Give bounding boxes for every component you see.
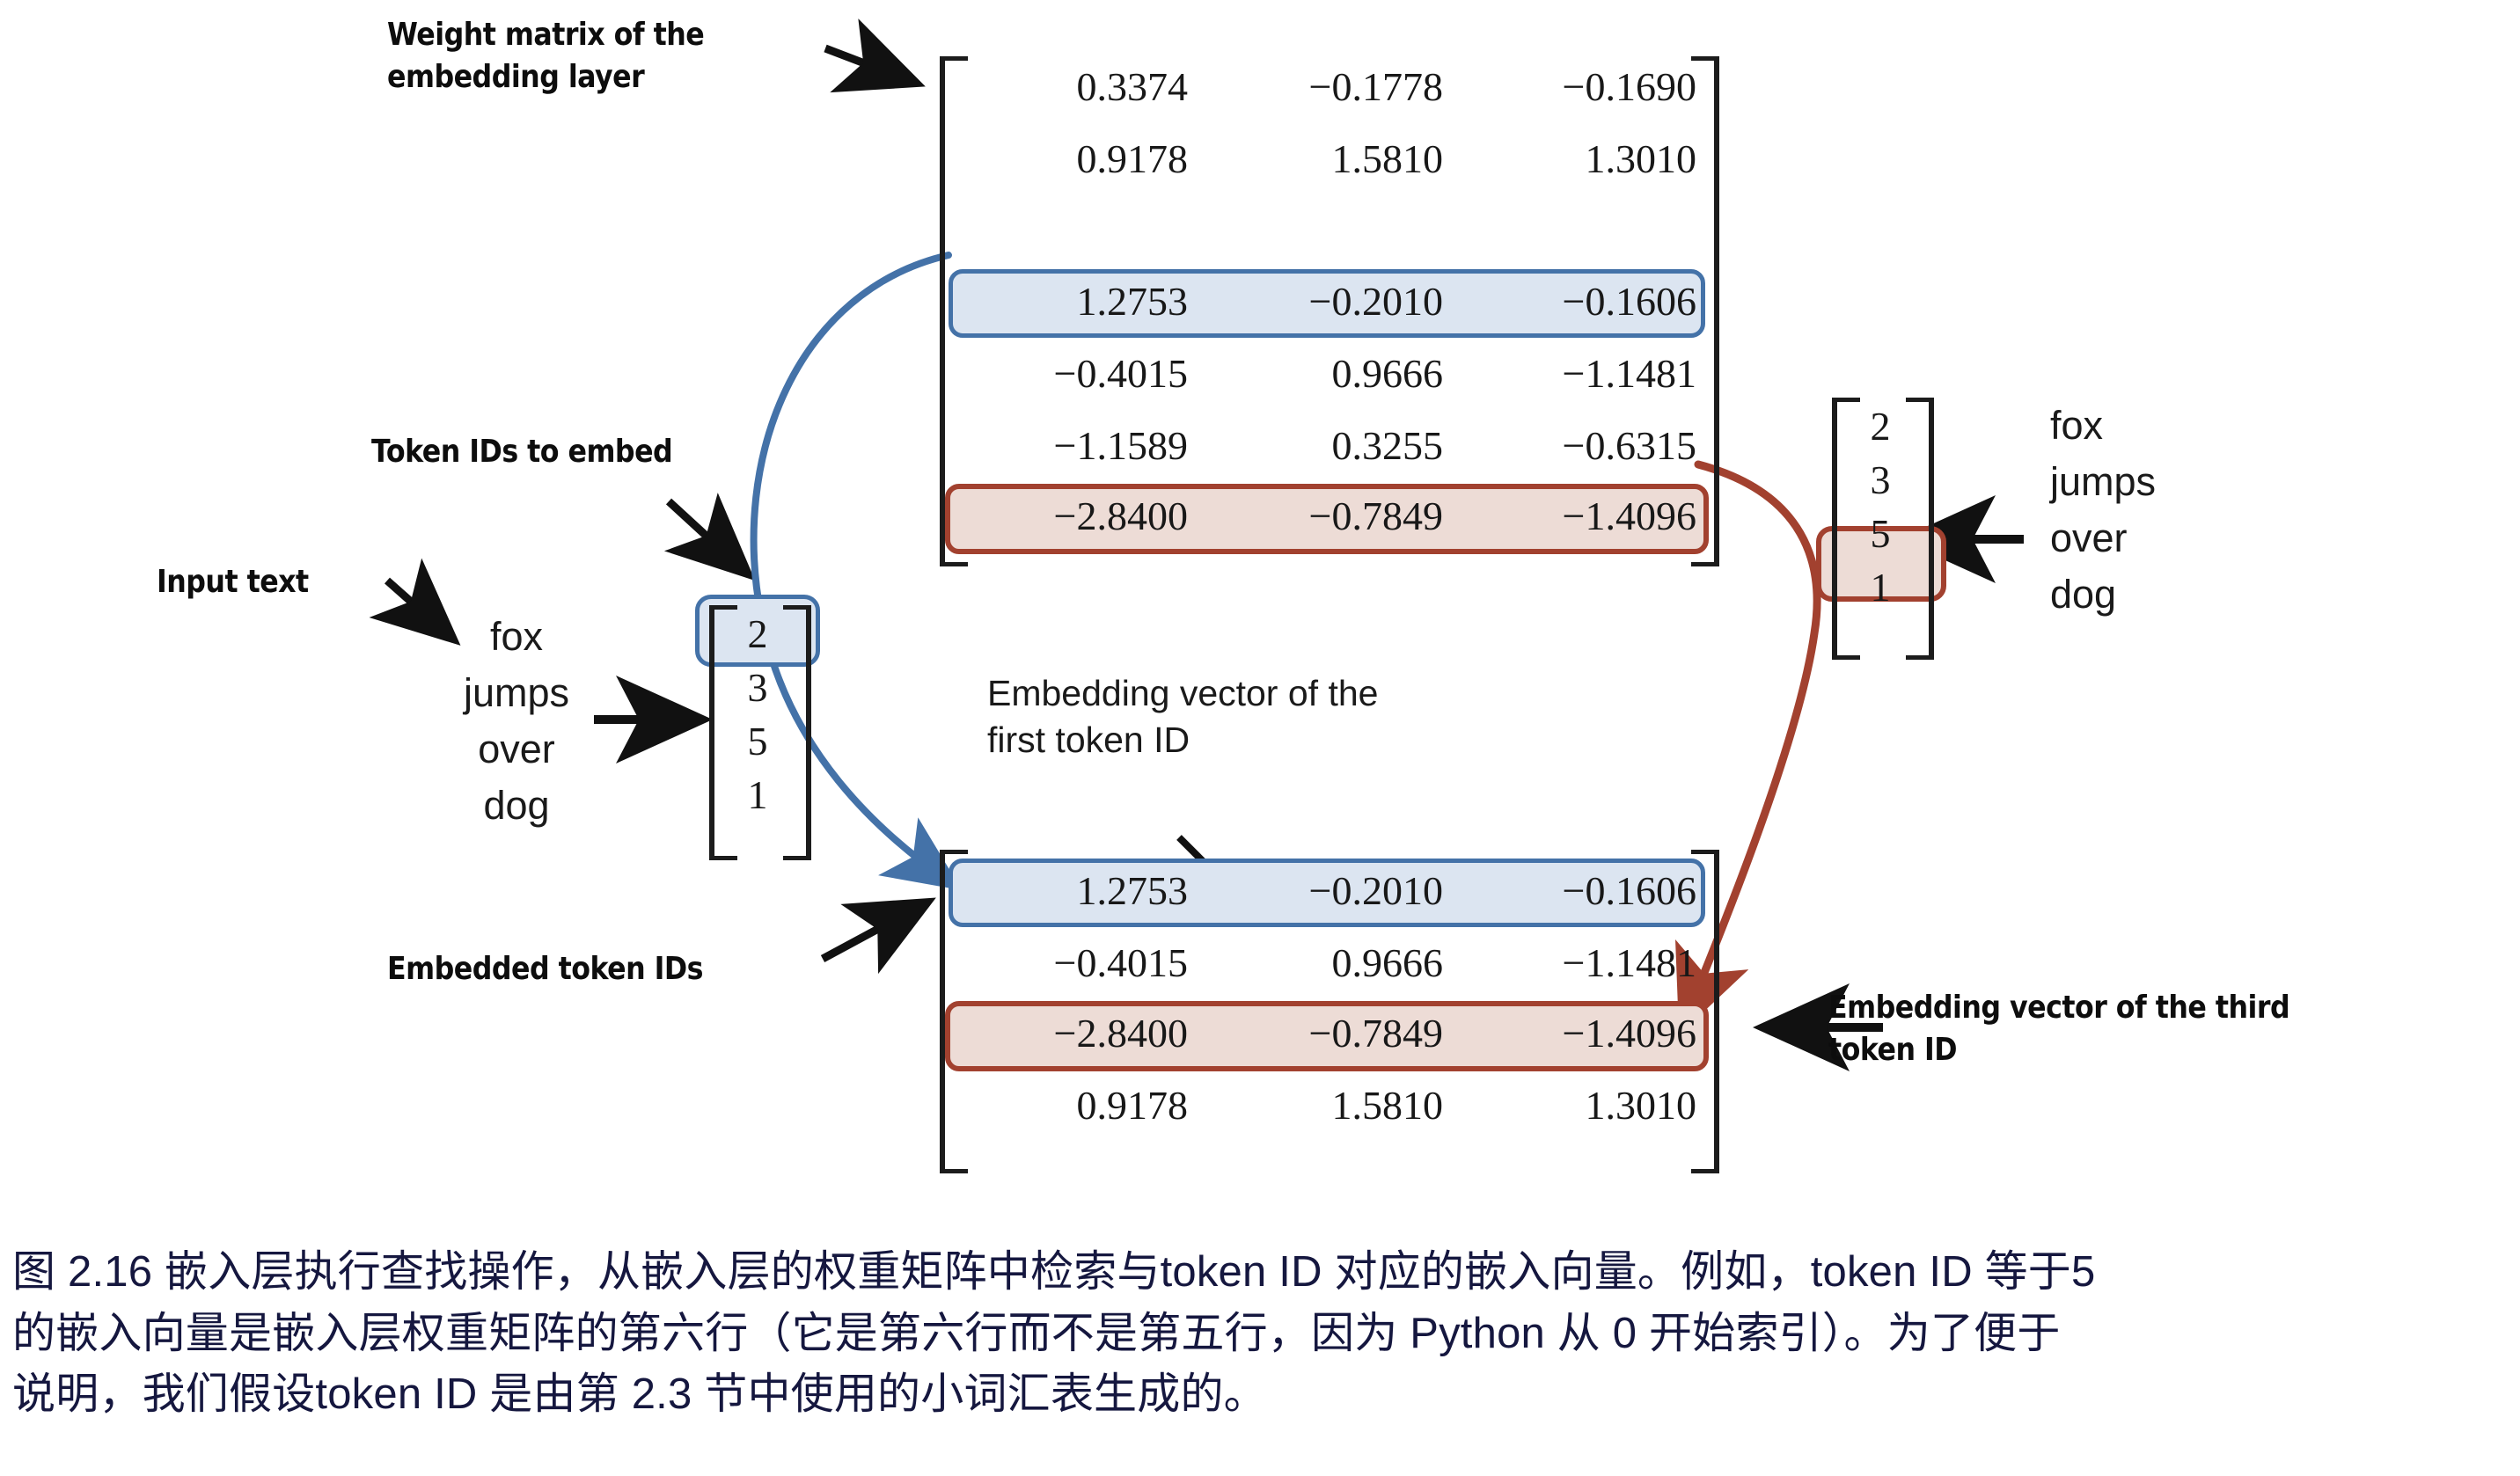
- embedded-matrix-row: 1.2753 −0.2010 −0.1606: [966, 867, 1696, 914]
- left-token-value: 3: [709, 664, 806, 711]
- embedded-matrix-row: 0.9178 1.5810 1.3010: [966, 1082, 1696, 1129]
- arrow-token-ids-to-embed: [669, 501, 744, 570]
- matrix-cell: 0.3374: [966, 63, 1188, 110]
- weight-matrix: 0.3374 −0.1778 −0.1690 0.9178 1.5810 1.3…: [940, 56, 1732, 505]
- matrix-cell: −1.4096: [1443, 493, 1696, 539]
- right-words-column: fox jumps over dog: [2050, 398, 2253, 623]
- right-word: jumps: [2050, 454, 2253, 510]
- label-embedding-vector-first-line2: first token ID: [987, 717, 1378, 764]
- matrix-cell: 0.9178: [966, 135, 1188, 182]
- label-token-ids-to-embed: Token IDs to embed: [371, 431, 672, 473]
- matrix-cell: −1.1481: [1443, 939, 1696, 986]
- label-embedding-vector-third-line2: token ID: [1828, 1029, 2289, 1071]
- label-embedding-vector-first-line1: Embedding vector of the: [987, 670, 1378, 717]
- matrix-cell: −0.2010: [1188, 867, 1443, 914]
- right-token-id-column: 2 3 5 1: [1832, 398, 1929, 653]
- right-word: over: [2050, 510, 2253, 566]
- input-word: fox: [433, 609, 600, 665]
- matrix-cell: −0.4015: [966, 939, 1188, 986]
- left-token-value: 5: [709, 718, 806, 764]
- weight-matrix-row: −0.4015 0.9666 −1.1481: [966, 350, 1696, 397]
- left-token-id-column: 2 3 5 1: [709, 605, 806, 860]
- weight-matrix-bracket-open: [940, 56, 968, 566]
- matrix-cell: 0.9666: [1188, 939, 1443, 986]
- embedded-matrix-bracket-open: [940, 850, 968, 1173]
- matrix-cell: −2.8400: [966, 493, 1188, 539]
- caption-line: 的嵌入向量是嵌入层权重矩阵的第六行（它是第六行而不是第五行，因为 Python …: [12, 1304, 2511, 1365]
- matrix-cell: −0.1690: [1443, 63, 1696, 110]
- matrix-cell: 1.3010: [1443, 135, 1696, 182]
- caption-line: 说明，我们假设token ID 是由第 2.3 节中使用的小词汇表生成的。: [12, 1364, 2511, 1426]
- embedded-matrix: 1.2753 −0.2010 −0.1606 −0.4015 0.9666 −1…: [940, 850, 1732, 1158]
- matrix-cell: 0.9178: [966, 1082, 1188, 1129]
- arrow-embedded-token-ids: [823, 905, 922, 959]
- matrix-cell: 0.3255: [1188, 422, 1443, 469]
- matrix-cell: 1.5810: [1188, 135, 1443, 182]
- input-word: dog: [433, 778, 600, 834]
- matrix-cell: −0.1606: [1443, 867, 1696, 914]
- input-words-column: fox jumps over dog: [433, 609, 600, 834]
- matrix-cell: −1.1481: [1443, 350, 1696, 397]
- left-token-value: 2: [709, 610, 806, 657]
- matrix-cell: −1.1589: [966, 422, 1188, 469]
- matrix-cell: −0.1606: [1443, 278, 1696, 325]
- matrix-cell: 1.5810: [1188, 1082, 1443, 1129]
- matrix-cell: −2.8400: [966, 1010, 1188, 1056]
- matrix-cell: 0.9666: [1188, 350, 1443, 397]
- input-word: jumps: [433, 665, 600, 721]
- matrix-cell: −0.7849: [1188, 1010, 1443, 1056]
- figure-caption: 图 2.16 嵌入层执行查找操作，从嵌入层的权重矩阵中检索与token ID 对…: [12, 1242, 2511, 1426]
- label-input-text: Input text: [157, 561, 309, 603]
- right-token-value: 1: [1832, 564, 1929, 610]
- right-token-value: 3: [1832, 457, 1929, 503]
- matrix-cell: −1.4096: [1443, 1010, 1696, 1056]
- matrix-cell: −0.2010: [1188, 278, 1443, 325]
- label-embedding-vector-third-line1: Embedding vector of the third: [1828, 987, 2289, 1029]
- input-word: over: [433, 721, 600, 778]
- label-embedded-token-ids: Embedded token IDs: [387, 948, 703, 990]
- matrix-cell: 1.2753: [966, 278, 1188, 325]
- arrow-weight-matrix: [825, 48, 911, 81]
- weight-matrix-row: −2.8400 −0.7849 −1.4096: [966, 493, 1696, 539]
- weight-matrix-row: 0.3374 −0.1778 −0.1690: [966, 63, 1696, 110]
- embedded-matrix-row: −0.4015 0.9666 −1.1481: [966, 939, 1696, 986]
- figure-canvas: Weight matrix of the embedding layer Tok…: [0, 0, 2520, 1476]
- label-embedding-vector-first: Embedding vector of the first token ID: [987, 670, 1378, 764]
- weight-matrix-row: −1.1589 0.3255 −0.6315: [966, 422, 1696, 469]
- matrix-cell: −0.6315: [1443, 422, 1696, 469]
- caption-line: 图 2.16 嵌入层执行查找操作，从嵌入层的权重矩阵中检索与token ID 对…: [12, 1242, 2511, 1304]
- right-word: fox: [2050, 398, 2253, 454]
- label-embedding-vector-third: Embedding vector of the third token ID: [1828, 987, 2289, 1070]
- weight-matrix-row: 0.9178 1.5810 1.3010: [966, 135, 1696, 182]
- right-token-value: 2: [1832, 403, 1929, 449]
- matrix-cell: −0.4015: [966, 350, 1188, 397]
- matrix-cell: −0.7849: [1188, 493, 1443, 539]
- matrix-cell: −0.1778: [1188, 63, 1443, 110]
- right-word: dog: [2050, 566, 2253, 623]
- weight-matrix-row: 1.2753 −0.2010 −0.1606: [966, 278, 1696, 325]
- matrix-cell: 1.3010: [1443, 1082, 1696, 1129]
- label-weight-matrix: Weight matrix of the embedding layer: [387, 14, 704, 98]
- right-token-value: 5: [1832, 510, 1929, 557]
- label-weight-matrix-line1: Weight matrix of the: [387, 14, 704, 56]
- embedded-matrix-row: −2.8400 −0.7849 −1.4096: [966, 1010, 1696, 1056]
- left-token-value: 1: [709, 771, 806, 818]
- label-weight-matrix-line2: embedding layer: [387, 56, 704, 99]
- matrix-cell: 1.2753: [966, 867, 1188, 914]
